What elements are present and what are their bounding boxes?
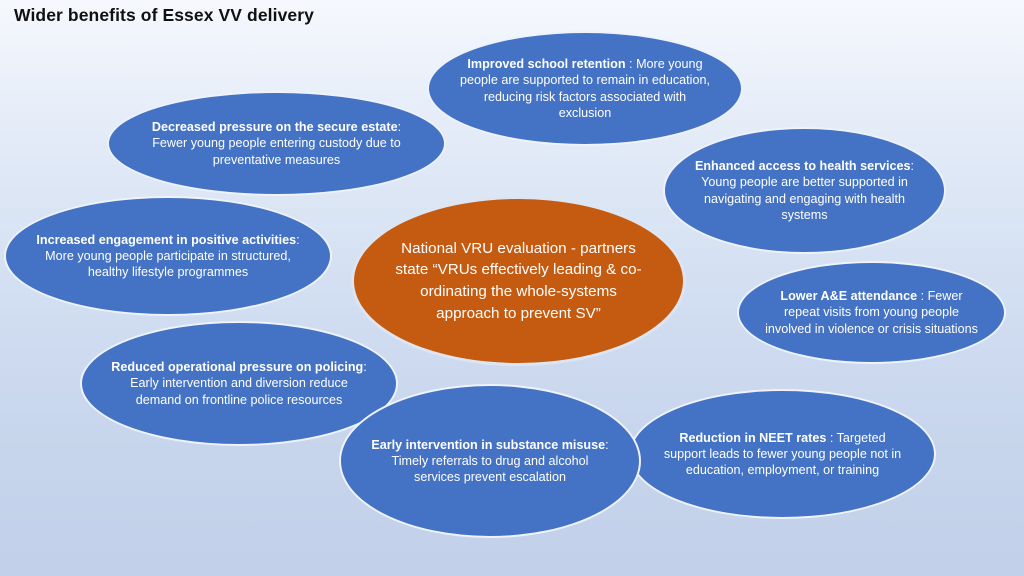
benefit-node-text: Decreased pressure on the secure estate:… [109,119,444,167]
benefit-node-lead: Reduction in NEET rates [679,431,826,445]
benefit-node-decreased-pressure-secure-estate[interactable]: Decreased pressure on the secure estate:… [107,91,446,196]
benefit-node-body: More young people participate in structu… [45,249,291,279]
benefit-node-enhanced-access-health-services[interactable]: Enhanced access to health services: Youn… [663,127,946,254]
benefit-node-lead: Increased engagement in positive activit… [36,233,296,247]
benefit-node-separator: : [605,438,609,452]
benefit-node-lower-ae-attendance[interactable]: Lower A&E attendance : Fewer repeat visi… [737,261,1006,364]
benefit-node-lead: Decreased pressure on the secure estate [152,120,398,134]
benefit-node-lead: Lower A&E attendance [780,289,917,303]
benefit-node-separator: : [626,57,637,71]
benefit-node-body: Early intervention and diversion reduce … [130,376,348,406]
benefit-node-lead: Reduced operational pressure on policing [111,360,363,374]
benefit-node-text: Reduction in NEET rates : Targeted suppo… [631,430,934,478]
benefit-node-text: Early intervention in substance misuse: … [341,437,639,485]
benefit-node-body: Fewer young people entering custody due … [152,136,401,166]
benefit-node-separator: : [363,360,367,374]
benefit-node-separator: : [826,431,836,445]
benefit-node-reduction-neet-rates[interactable]: Reduction in NEET rates : Targeted suppo… [629,389,936,519]
center-node-text: National VRU evaluation - partners state… [354,238,683,324]
benefit-node-early-intervention-substance-misuse[interactable]: Early intervention in substance misuse: … [339,384,641,538]
benefit-node-text: Improved school retention : More young p… [429,56,741,120]
benefit-node-text: Lower A&E attendance : Fewer repeat visi… [739,288,1004,336]
benefit-node-separator: : [398,120,402,134]
benefit-node-lead: Enhanced access to health services [695,159,911,173]
benefit-node-separator: : [917,289,928,303]
benefit-node-reduced-operational-pressure-policing[interactable]: Reduced operational pressure on policing… [80,321,398,446]
benefit-node-lead: Improved school retention [467,57,625,71]
benefit-node-improved-school-retention[interactable]: Improved school retention : More young p… [427,31,743,146]
benefit-node-body: Young people are better supported in nav… [701,175,908,221]
page-title: Wider benefits of Essex VV delivery [14,5,314,26]
slide-canvas: Wider benefits of Essex VV delivery Decr… [0,0,1024,576]
center-node-national-vru-evaluation[interactable]: National VRU evaluation - partners state… [351,196,686,366]
benefit-node-lead: Early intervention in substance misuse [371,438,605,452]
benefit-node-body: Timely referrals to drug and alcohol ser… [392,454,589,484]
benefit-node-text: Enhanced access to health services: Youn… [665,158,944,222]
benefit-node-separator: : [296,233,300,247]
benefit-node-increased-engagement-positive-activities[interactable]: Increased engagement in positive activit… [4,196,332,316]
benefit-node-separator: : [911,159,915,173]
benefit-node-text: Increased engagement in positive activit… [6,232,330,280]
benefit-node-text: Reduced operational pressure on policing… [82,359,396,407]
